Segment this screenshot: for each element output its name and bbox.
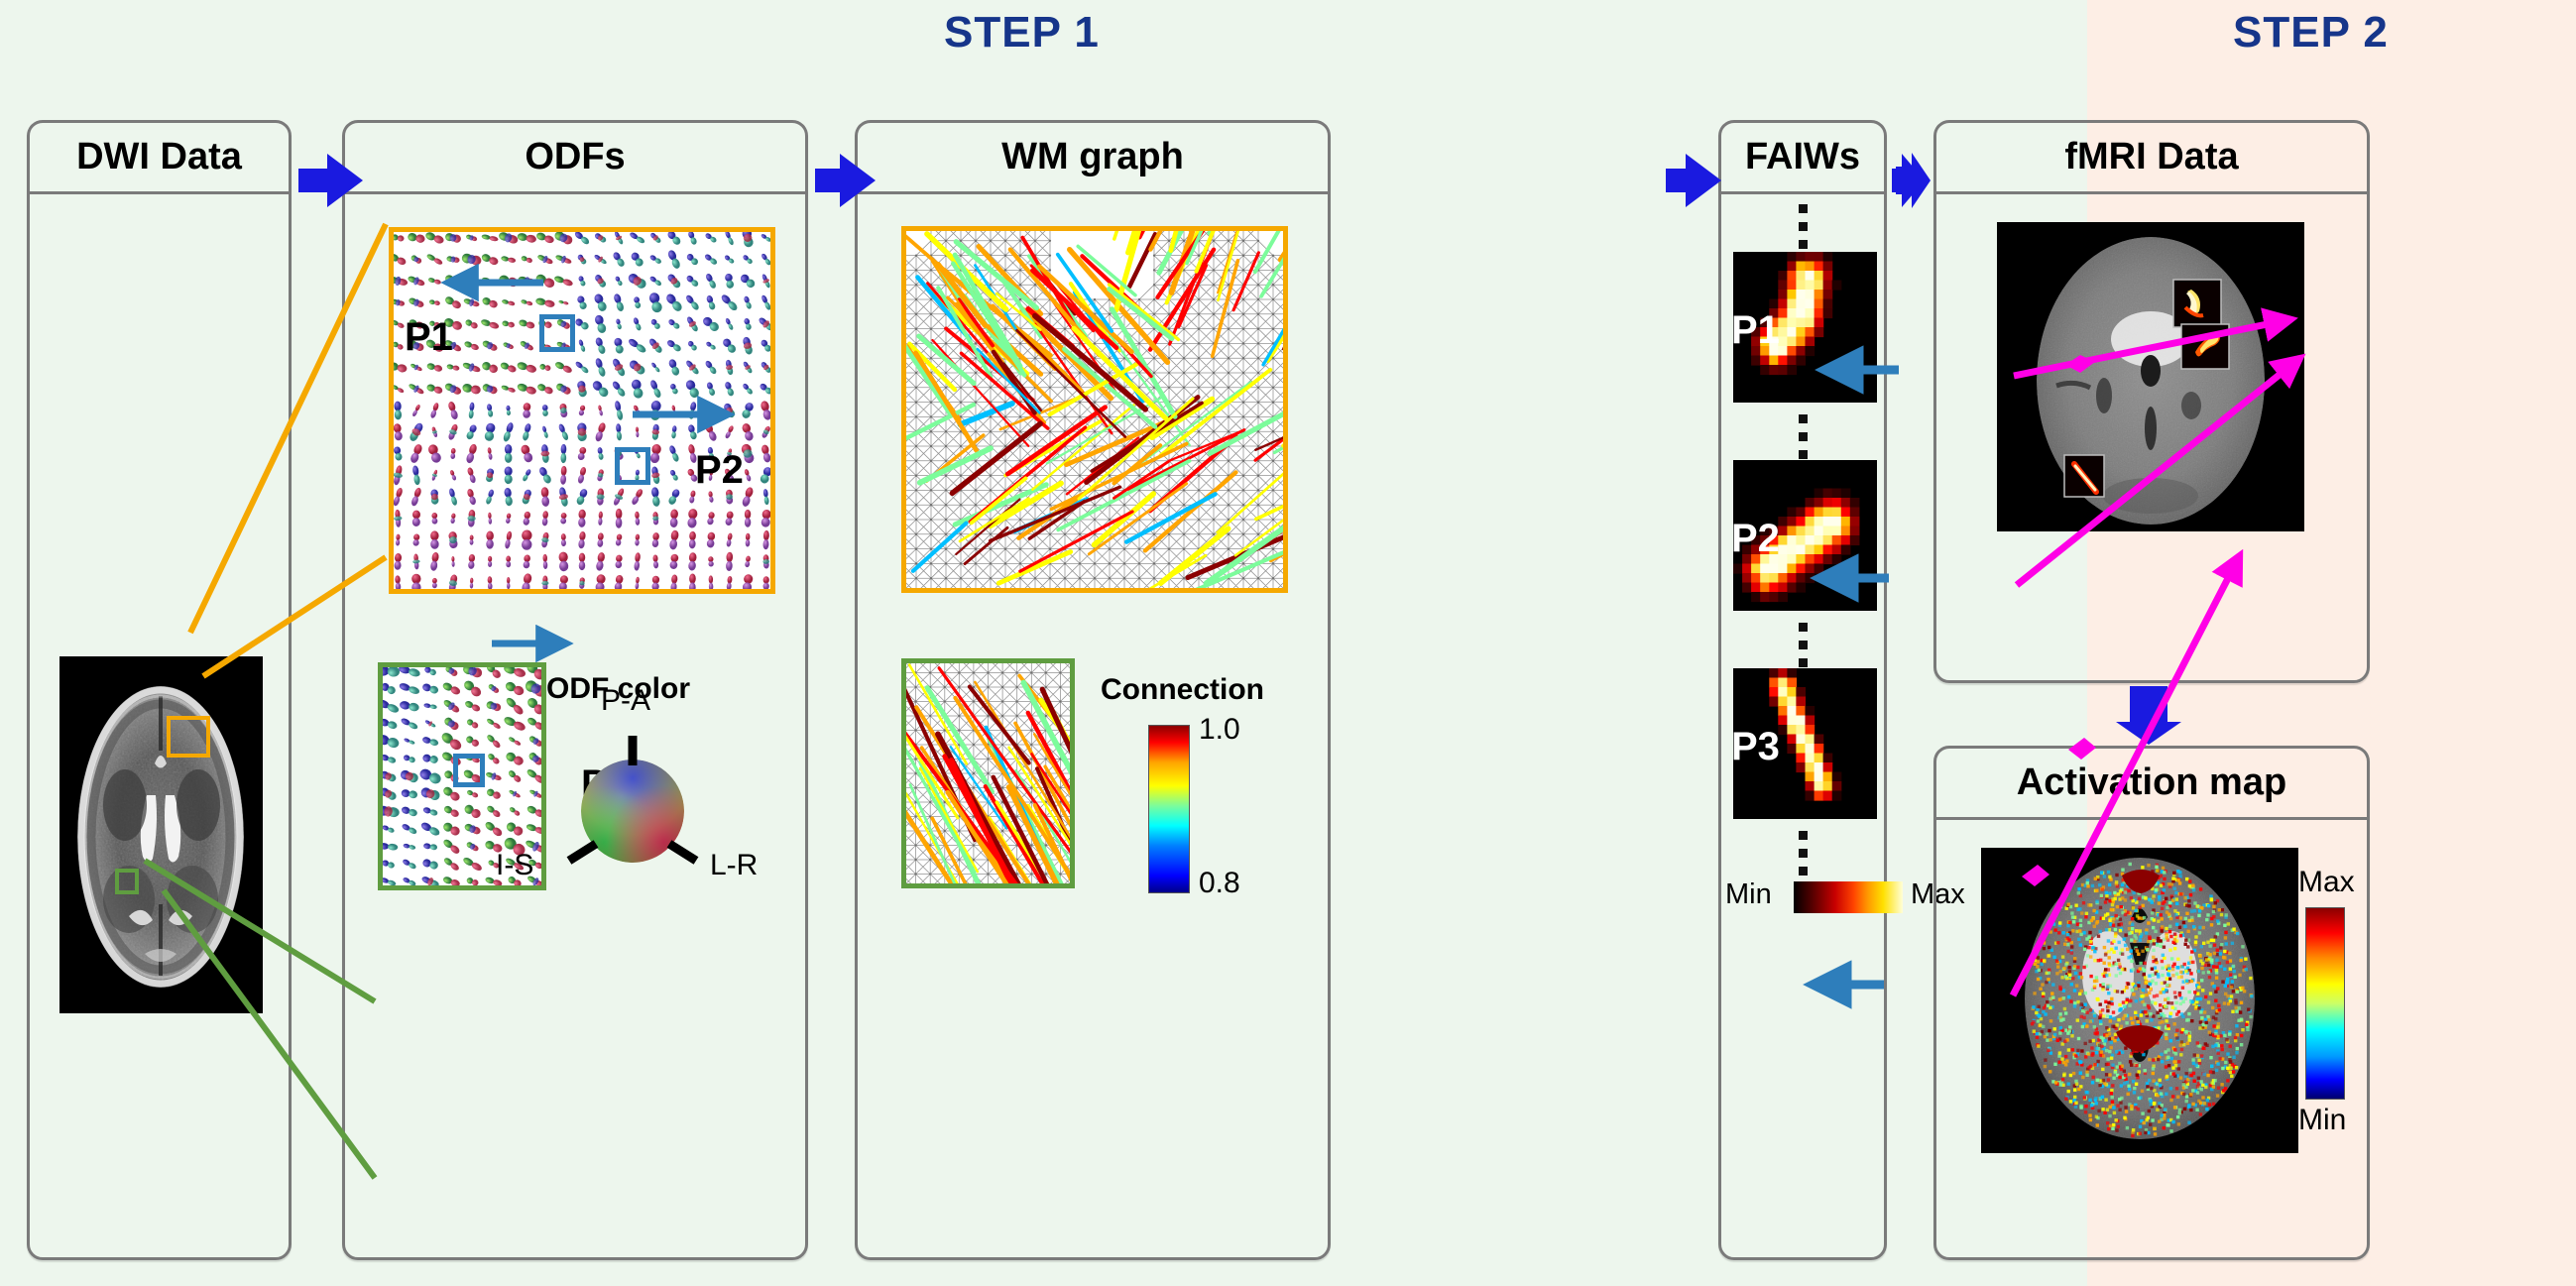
faiw-label-p1: P1 (1731, 308, 1780, 353)
faiw-dots-mid1 (1799, 414, 1808, 459)
panel-title-dwi: DWI Data (30, 123, 289, 194)
faiw-legend-min: Min (1725, 878, 1772, 911)
panel-title-faiws: FAIWs (1721, 123, 1884, 194)
panel-body-activation: Max Min (1936, 820, 2367, 1257)
connection-value-min: 0.8 (1199, 867, 1240, 900)
panel-title-activation: Activation map (1936, 749, 2367, 820)
panel-body-fmri (1936, 194, 2367, 680)
faiw-dots-top (1799, 204, 1808, 249)
panel-dwi-data: DWI Data (27, 120, 292, 1260)
fmri-inset-2 (2181, 324, 2229, 369)
odf-selection-box-p1[interactable] (539, 314, 575, 352)
fmri-brain-slice (1997, 222, 2304, 531)
odf-axis-label-lr: L-R (710, 849, 758, 882)
panel-activation-map: Activation map (1933, 746, 2370, 1260)
dwi-brain-slice (59, 656, 263, 1013)
panel-title-odfs: ODFs (345, 123, 805, 194)
panel-body-faiws: P1 P2 P3 Min Max (1721, 194, 1884, 1257)
odf-glyph-grid-upper (389, 227, 775, 594)
activation-legend-min: Min (2298, 1104, 2346, 1137)
panel-body-odfs: P1 P2 P3 ODF color (345, 194, 805, 1257)
faiw-colorbar (1794, 881, 1903, 913)
wm-graph-lower (901, 658, 1075, 888)
faiw-dots-mid2 (1799, 623, 1808, 667)
wm-graph-mesh-upper (901, 226, 1288, 593)
faiw-label-p3: P3 (1731, 725, 1780, 769)
activation-colorbar (2305, 907, 2345, 1100)
fmri-inset-1 (2173, 280, 2221, 327)
step1-title: STEP 1 (944, 8, 1100, 58)
odf-axis-label-is: I-S (496, 849, 533, 882)
label-p2: P2 (695, 448, 744, 493)
activation-brain-slice (1981, 848, 2298, 1153)
odf-color-sphere-group (543, 720, 722, 898)
odf-selection-box-p3[interactable] (453, 754, 485, 787)
label-p1: P1 (405, 315, 453, 360)
connection-colorbar (1148, 725, 1190, 893)
panel-fmri-data: fMRI Data (1933, 120, 2370, 683)
wm-graph-upper (901, 226, 1288, 593)
connection-value-max: 1.0 (1199, 713, 1240, 747)
faiw-label-p2: P2 (1731, 517, 1780, 561)
odf-field-upper (389, 227, 775, 594)
odf-axis-label-pa: P-A (601, 684, 650, 718)
fmri-inset-3 (2064, 455, 2104, 497)
activation-legend-max: Max (2298, 866, 2355, 899)
roi-box-green[interactable] (115, 869, 139, 894)
wm-graph-mesh-lower (901, 658, 1075, 888)
axis-tick-is (569, 844, 596, 861)
panel-title-fmri: fMRI Data (1936, 123, 2367, 194)
panel-wm-graph: WM graph Connection 1.0 0.8 (855, 120, 1331, 1260)
panel-title-wmgraph: WM graph (858, 123, 1328, 194)
faiw-dots-bottom (1799, 831, 1808, 876)
figure-canvas: STEP 1 STEP 2 DWI Data (0, 0, 2576, 1286)
connection-legend-title: Connection (1101, 673, 1264, 707)
odf-selection-box-p2[interactable] (615, 447, 650, 485)
step2-title: STEP 2 (2233, 8, 2389, 58)
panel-body-dwi (30, 194, 289, 1257)
panel-body-wmgraph: Connection 1.0 0.8 (858, 194, 1328, 1257)
panel-odfs: ODFs (342, 120, 808, 1260)
roi-box-yellow[interactable] (167, 716, 210, 758)
axis-tick-lr (669, 844, 696, 861)
panel-faiws: FAIWs P1 P2 P3 (1718, 120, 1887, 1260)
